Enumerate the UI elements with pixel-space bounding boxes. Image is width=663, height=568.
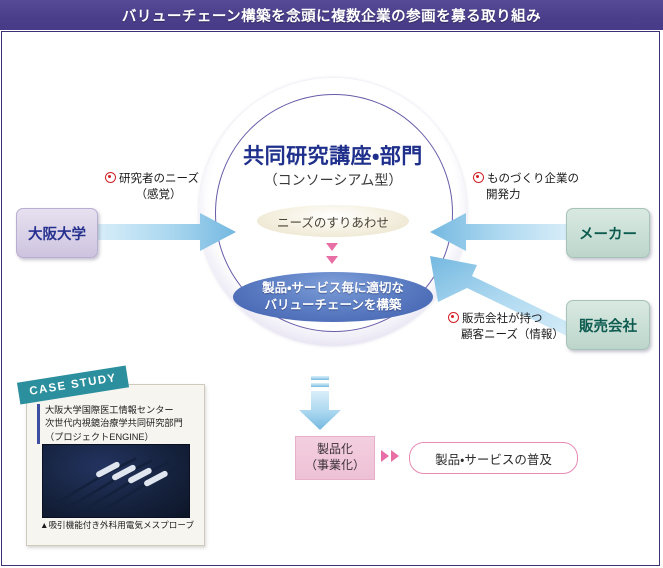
- label-researcher-needs-line2: （感覚）: [82, 188, 222, 204]
- case-study-title-line2: 次世代内視鏡治療学共同研究部門: [45, 417, 205, 430]
- case-study-title-line1: 大阪大学国際医工情報センター: [45, 404, 205, 417]
- arrow-maker-to-center: [430, 213, 570, 251]
- value-chain-line-2: バリューチェーンを構築: [265, 297, 402, 314]
- header-bar: バリューチェーン構築を念頭に複数企業の参画を募る取り組み: [0, 0, 663, 30]
- bullet-dot-icon: [473, 172, 484, 183]
- label-maker-capability-line1: ものづくり企業の: [487, 173, 579, 185]
- case-study-photo: [42, 444, 190, 518]
- value-chain-ellipse: 製品・サービス毎に適切な バリューチェーンを構築: [233, 272, 433, 322]
- diagram-root: バリューチェーン構築を念頭に複数企業の参画を募る取り組み: [0, 0, 663, 568]
- bullet-dot-icon: [448, 312, 459, 323]
- box-osaka-university: 大阪大学: [16, 208, 98, 258]
- box-product-service-spread-label: 製品・サービスの普及: [435, 449, 552, 468]
- label-dealer-customer-needs: 販売会社が持つ 顧客ニーズ（情報）: [448, 312, 608, 343]
- box-osaka-university-label: 大阪大学: [28, 223, 86, 244]
- case-study-title: 大阪大学国際医工情報センター 次世代内視鏡治療学共同研究部門 （プロジェクトEN…: [37, 404, 205, 444]
- box-maker: メーカー: [566, 208, 650, 258]
- box-productization-line2: （事業化）: [305, 458, 365, 474]
- center-subtitle: （コンソーシアム型）: [199, 170, 467, 190]
- label-dealer-customer-needs-line1: 販売会社が持つ: [462, 313, 543, 325]
- double-right-triangle-icon: [381, 450, 399, 462]
- page-title: バリューチェーン構築を念頭に複数企業の参画を募る取り組み: [122, 5, 541, 26]
- center-title: 共同研究講座・部門: [199, 140, 467, 170]
- label-dealer-customer-needs-line2: 顧客ニーズ（情報）: [448, 328, 608, 344]
- label-maker-capability-line2: 開発力: [473, 188, 623, 204]
- arrow-university-to-center: [96, 213, 236, 251]
- surgical-probe-image: [43, 445, 189, 517]
- label-researcher-needs-line1: 研究者のニーズ: [119, 173, 199, 185]
- arrow-down-to-productization: [290, 376, 350, 430]
- label-researcher-needs: 研究者のニーズ （感覚）: [82, 172, 222, 203]
- label-maker-capability: ものづくり企業の 開発力: [473, 172, 623, 203]
- needs-alignment-ellipse: ニーズのすりあわせ: [257, 205, 409, 237]
- box-maker-label: メーカー: [579, 223, 637, 244]
- bullet-dot-icon: [105, 172, 116, 183]
- case-study-caption: ▲吸引機能付き外科用電気メスプローブ: [37, 519, 197, 531]
- down-triangle-icon-2: [326, 256, 338, 264]
- down-triangle-icon-1: [326, 243, 338, 251]
- needs-alignment-label: ニーズのすりあわせ: [277, 212, 389, 231]
- box-productization: 製品化 （事業化）: [295, 436, 375, 480]
- box-productization-line1: 製品化: [317, 442, 353, 458]
- box-product-service-spread: 製品・サービスの普及: [409, 442, 578, 474]
- case-study-title-line3: （プロジェクトENGINE）: [45, 431, 205, 444]
- value-chain-line-1: 製品・サービス毎に適切な: [262, 280, 404, 297]
